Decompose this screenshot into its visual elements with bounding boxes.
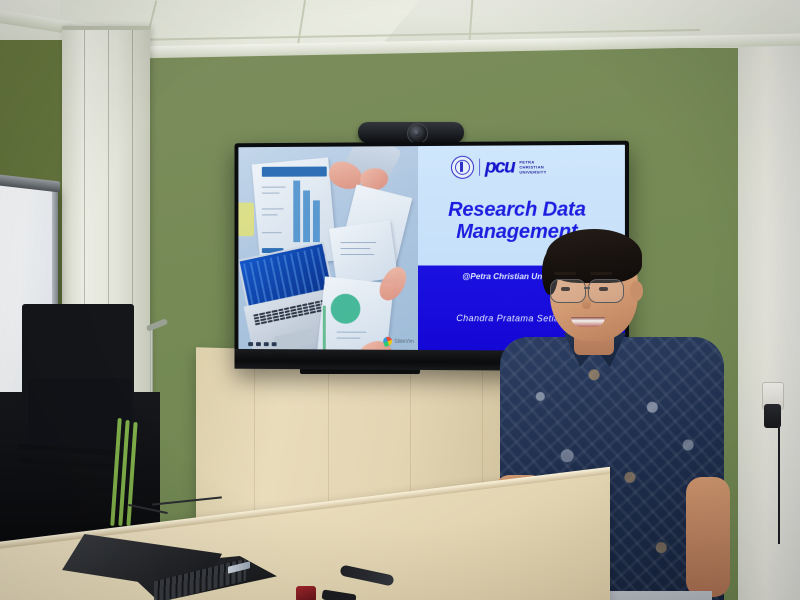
logo-divider (479, 159, 480, 176)
slide-photo-caption (262, 167, 327, 177)
ear (630, 281, 643, 301)
meeting-room-photo: SlideVim pcu PETRA CHRISTIAN UNIVERSITY (0, 0, 800, 600)
right-arm (686, 477, 730, 597)
slidevim-fan-icon (382, 336, 393, 347)
pcu-full-name: PETRA CHRISTIAN UNIVERSITY (519, 160, 546, 175)
slide-photo-desk: SlideVim (238, 146, 417, 350)
pcu-logo: pcu PETRA CHRISTIAN UNIVERSITY (451, 156, 547, 180)
camera-lens-icon (407, 123, 428, 144)
slide-watermark: SlideVim (383, 337, 413, 346)
stacked-chairs (18, 300, 148, 530)
eyeglasses (588, 279, 624, 303)
university-seal-icon (451, 156, 474, 179)
nose (582, 295, 591, 309)
tv-indicator-lights (248, 342, 276, 346)
red-object-on-table (296, 586, 316, 600)
eyeglasses (550, 279, 586, 303)
eyebrow (590, 272, 612, 275)
charger-cord (778, 424, 780, 544)
eyeglasses-bridge (584, 287, 590, 289)
right-wall (738, 44, 800, 600)
black-laptop (62, 534, 277, 600)
pillar-seam (62, 26, 150, 30)
video-conference-camera (358, 122, 464, 143)
eyebrow (554, 272, 576, 275)
pcu-wordmark: pcu (485, 158, 514, 177)
mouth (571, 317, 605, 327)
